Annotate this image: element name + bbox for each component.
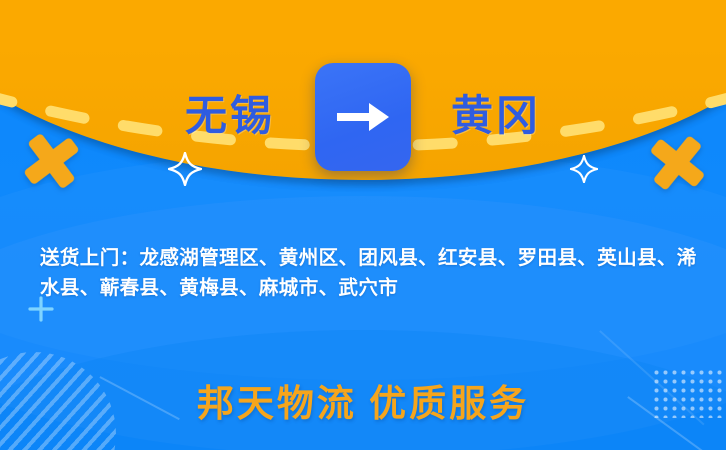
- company-slogan: 邦天物流 优质服务: [0, 386, 726, 423]
- route-row: 无锡 黄冈: [0, 62, 726, 172]
- delivery-areas-text: 送货上门：龙感湖管理区、黄州区、团风县、红安县、罗田县、英山县、浠水县、蕲春县、…: [40, 244, 698, 304]
- origin-city: 无锡: [171, 96, 289, 138]
- arrow-right-icon: [315, 63, 411, 171]
- logistics-route-banner: 无锡 黄冈 送货上门：龙感湖管理区、黄州区、团风县、红安县、罗田县、英山县、浠水…: [0, 0, 726, 450]
- destination-city: 黄冈: [437, 96, 555, 138]
